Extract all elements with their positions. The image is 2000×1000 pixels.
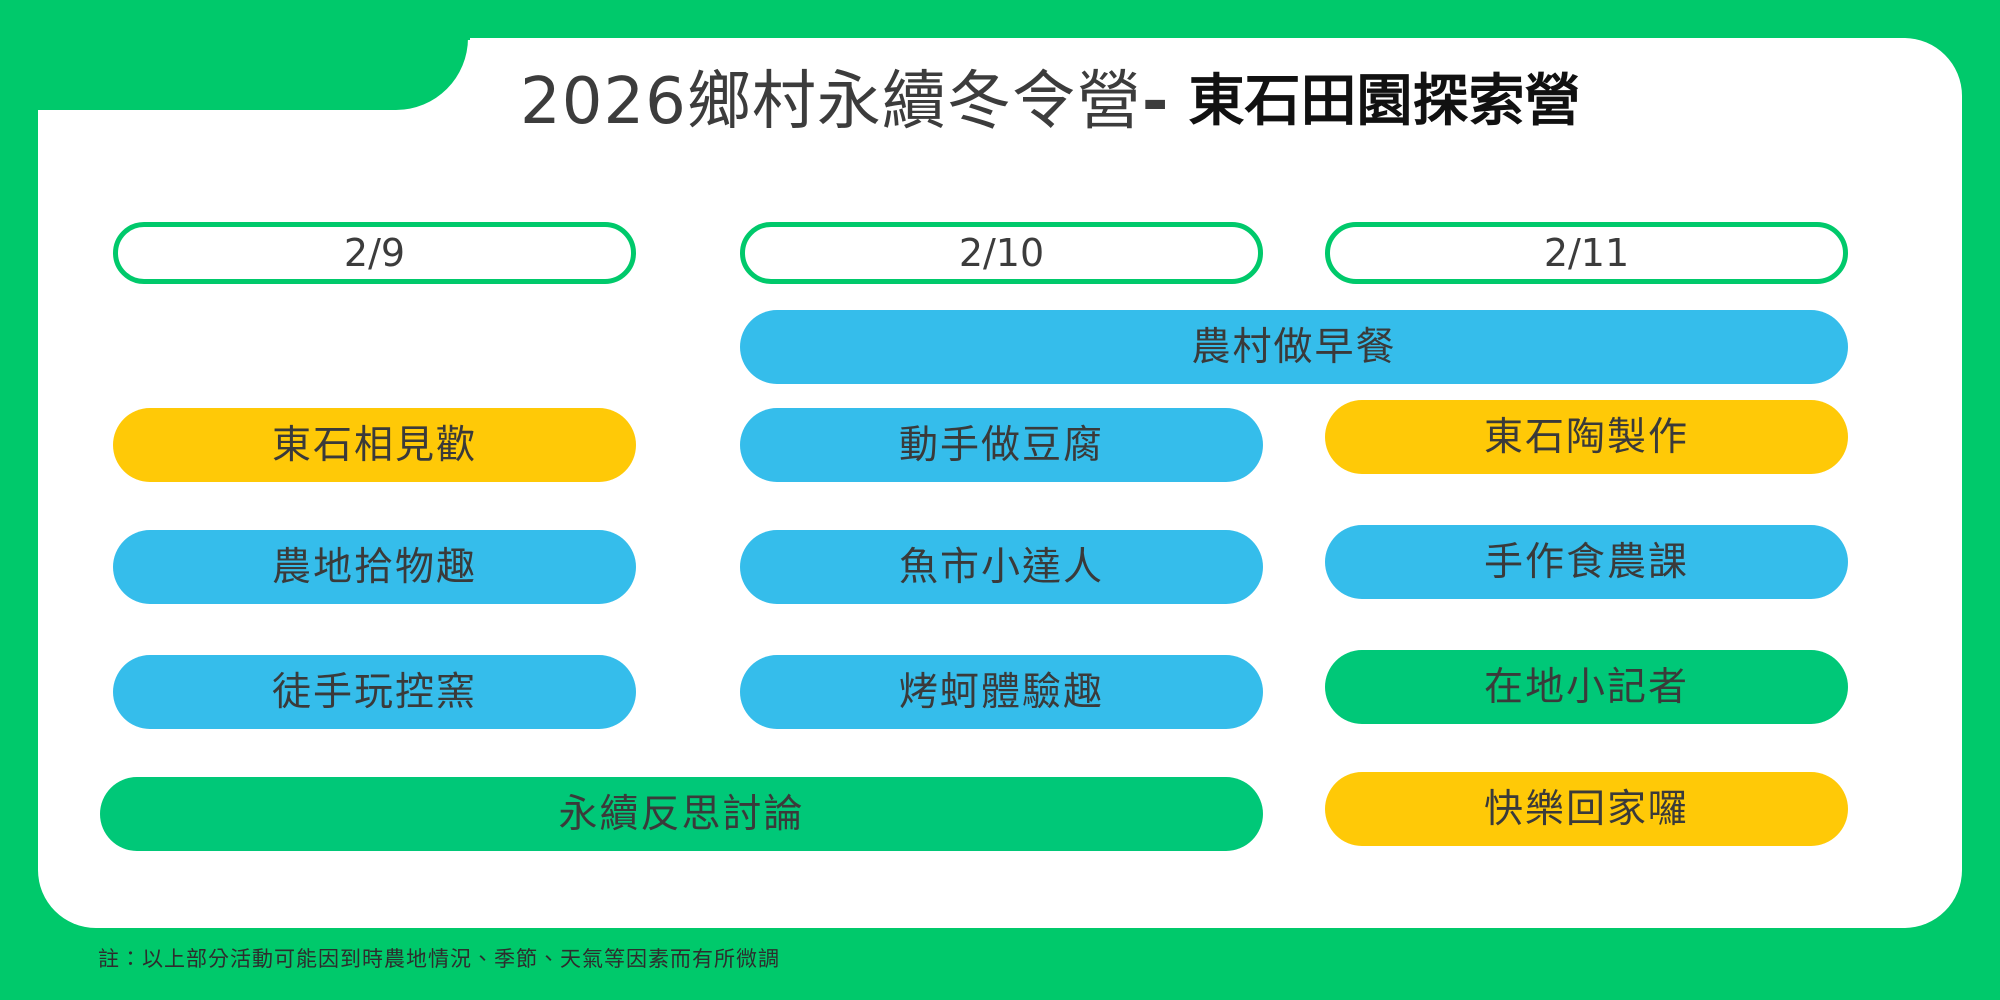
- activity-label: 在地小記者: [1484, 668, 1689, 707]
- title-subtitle-text: 東石田園探索營: [1188, 74, 1580, 130]
- activity-pill-make-tofu[interactable]: 動手做豆腐: [740, 408, 1263, 482]
- activity-label: 魚市小達人: [899, 548, 1104, 587]
- activity-pill-local-reporter[interactable]: 在地小記者: [1325, 650, 1848, 724]
- activity-pill-handmade-food[interactable]: 手作食農課: [1325, 525, 1848, 599]
- date-tab-label: 2/11: [1544, 234, 1629, 272]
- activity-label: 東石相見歡: [272, 426, 477, 465]
- activity-pill-go-home[interactable]: 快樂回家囉: [1325, 772, 1848, 846]
- activity-label: 永續反思討論: [558, 795, 804, 834]
- activity-label: 東石陶製作: [1484, 418, 1689, 457]
- title-main-text: 2026鄉村永續冬令營: [520, 70, 1142, 134]
- date-tab-day1[interactable]: 2/9: [113, 222, 636, 284]
- activity-pill-oyster-grill[interactable]: 烤蚵體驗趣: [740, 655, 1263, 729]
- title-separator: -: [1142, 70, 1169, 134]
- activity-label: 快樂回家囉: [1484, 790, 1689, 829]
- activity-pill-pottery[interactable]: 東石陶製作: [1325, 400, 1848, 474]
- date-tab-label: 2/10: [959, 234, 1044, 272]
- page-title: 2026鄉村永續冬令營 - 東石田園探索營: [520, 56, 1940, 148]
- activity-label: 動手做豆腐: [899, 426, 1104, 465]
- date-tab-label: 2/9: [344, 234, 405, 272]
- card-corner-notch-fill: [0, 0, 470, 40]
- activity-pill-field-gleaning[interactable]: 農地拾物趣: [113, 530, 636, 604]
- date-tab-day2[interactable]: 2/10: [740, 222, 1263, 284]
- activity-pill-farm-breakfast[interactable]: 農村做早餐: [740, 310, 1848, 384]
- activity-pill-meet-greet[interactable]: 東石相見歡: [113, 408, 636, 482]
- activity-label: 農村做早餐: [1191, 328, 1396, 367]
- activity-label: 烤蚵體驗趣: [899, 673, 1104, 712]
- date-tab-day3[interactable]: 2/11: [1325, 222, 1848, 284]
- activity-label: 農地拾物趣: [272, 548, 477, 587]
- activity-pill-fish-market[interactable]: 魚市小達人: [740, 530, 1263, 604]
- activity-label: 徒手玩控窯: [272, 673, 477, 712]
- footer-note: 註：以上部分活動可能因到時農地情況、季節、天氣等因素而有所微調: [98, 943, 780, 973]
- activity-label: 手作食農課: [1484, 543, 1689, 582]
- card-corner-notch: [38, 38, 468, 110]
- activity-pill-sustainability-reflection[interactable]: 永續反思討論: [100, 777, 1263, 851]
- activity-pill-earth-kiln[interactable]: 徒手玩控窯: [113, 655, 636, 729]
